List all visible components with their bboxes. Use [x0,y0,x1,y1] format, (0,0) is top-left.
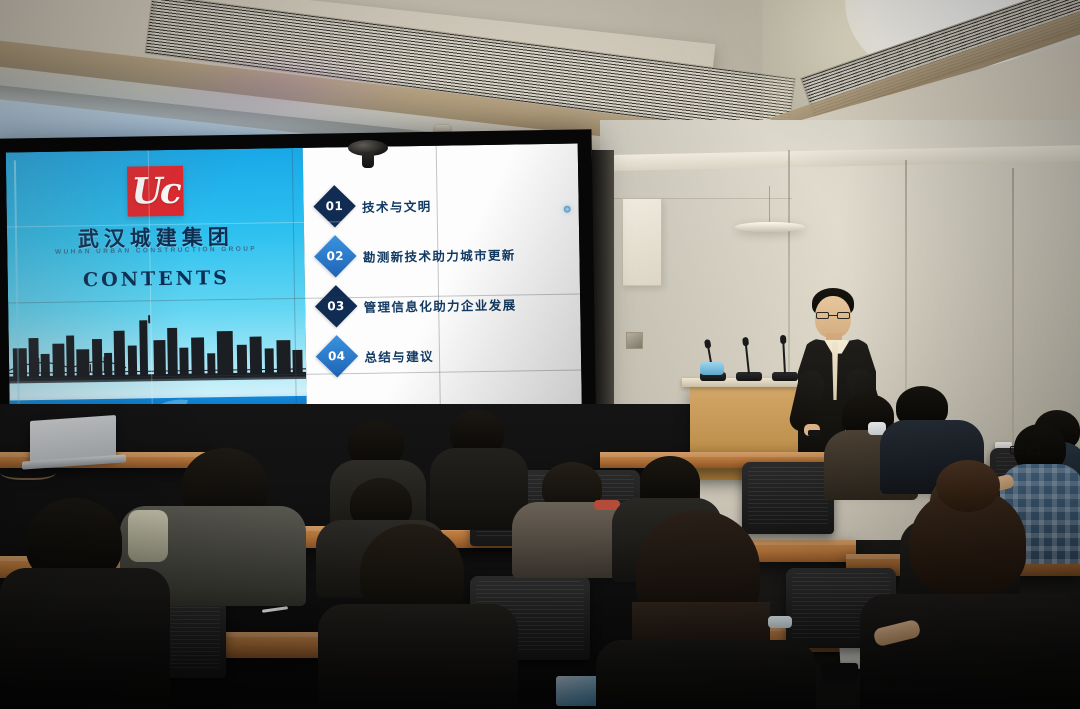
glasses-icon [1010,446,1040,454]
slide-contents-panel: 01 技术与文明 02 勘测新技术助力城市更新 03 [303,144,582,440]
toc-number-diamond-02: 02 [315,235,357,277]
toc-label-01: 技术与文明 [362,195,432,215]
toc-number-diamond-03: 03 [315,285,357,327]
toc-item-04: 04 总结与建议 [322,338,575,372]
torso [860,594,1080,709]
video-wall-display[interactable]: Uc 武汉城建集团 WUHAN URBAN CONSTRUCTION GROUP… [6,144,583,445]
slide-title-panel: Uc 武汉城建集团 WUHAN URBAN CONSTRUCTION GROUP… [6,148,308,445]
toc-number-02: 02 [327,249,345,263]
camera-mount [362,152,374,168]
torso [0,568,170,709]
toc-item-03: 03 管理信息化助力企业发展 [321,288,574,322]
ceiling-color-cast [150,52,410,122]
audience-member [318,524,518,709]
audience-member [860,476,1080,709]
presentation-remote[interactable] [808,430,821,436]
phone[interactable] [822,663,858,679]
toc-item-02: 02 勘测新技术助力城市更新 [321,238,574,272]
toc-label-03: 管理信息化助力企业发展 [363,294,516,315]
toc-number-diamond-01: 01 [314,185,356,227]
laptop-cable [0,462,56,480]
toc-number-04: 04 [329,349,347,363]
hair-bun [936,460,1000,512]
pendant-light [735,222,805,232]
torso [318,604,518,709]
wall-socket-plate [626,332,643,349]
presentation-slide: Uc 武汉城建集团 WUHAN URBAN CONSTRUCTION GROUP… [6,144,583,445]
face-mask [768,616,792,628]
pendant-light-wire [769,186,770,224]
screen-indicator-light [564,206,571,213]
city-skyline-illustration [8,310,307,401]
torso [596,640,816,709]
toc-number-diamond-04: 04 [316,335,358,377]
wall-panel-plaque [622,198,662,286]
toc-item-01: 01 技术与文明 [320,188,573,222]
ceiling-camera [348,140,388,159]
toc-number-01: 01 [326,199,344,213]
toc-label-04: 总结与建议 [364,345,434,365]
contents-heading: CONTENTS [8,266,306,293]
audience-member [596,510,816,709]
audience-member [0,498,170,709]
glasses-icon [816,312,850,319]
conference-room-photo: Uc 武汉城建集团 WUHAN URBAN CONSTRUCTION GROUP… [0,0,1080,709]
toc-number-03: 03 [328,299,346,313]
face-mask-on-podium [700,362,724,375]
toc-label-02: 勘测新技术助力城市更新 [363,244,516,265]
logo-glyph: Uc [131,173,179,210]
company-logo-icon: Uc [127,166,184,217]
table-of-contents: 01 技术与文明 02 勘测新技术助力城市更新 03 [320,188,575,372]
